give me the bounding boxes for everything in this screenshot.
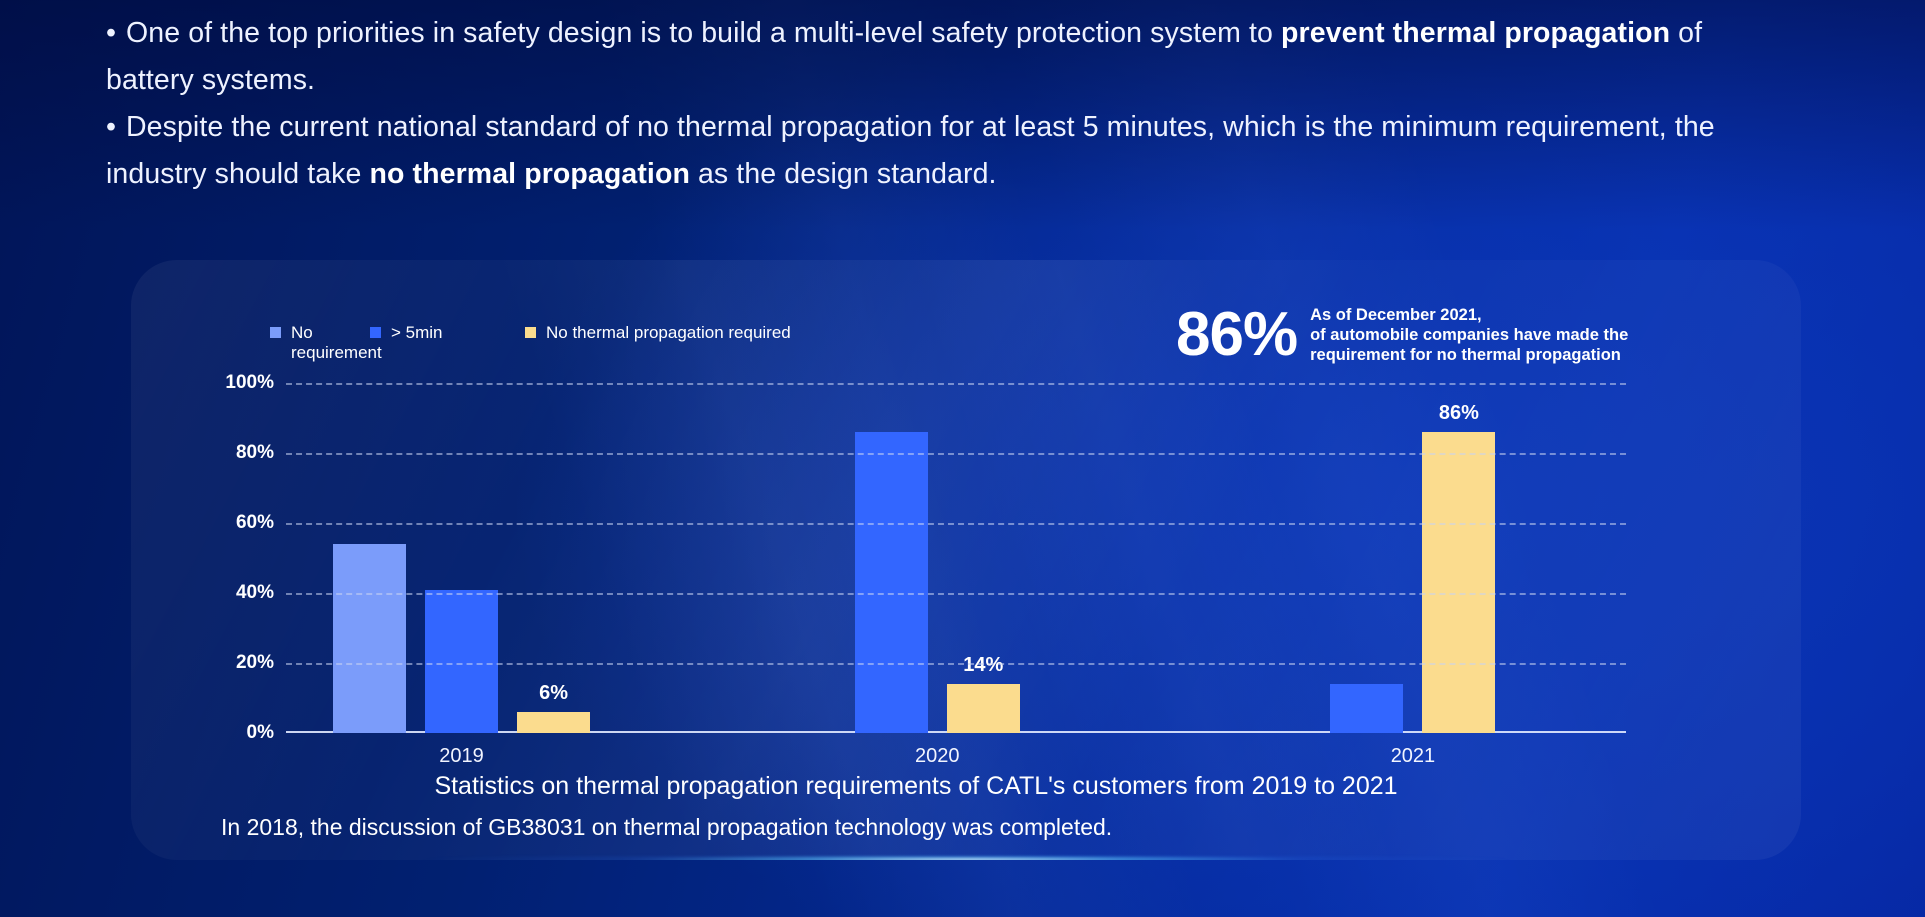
legend-item-2[interactable]: No thermal propagation required [525, 323, 791, 343]
chart-legend: No requirement> 5minNo thermal propagati… [270, 323, 791, 363]
legend-swatch-icon [370, 327, 381, 338]
bar-2021-series-1[interactable] [1330, 684, 1403, 733]
bar-2019-series-0[interactable] [333, 544, 406, 733]
callout-percent: 86% [1176, 304, 1297, 366]
bullet-marker: • [106, 111, 118, 143]
callout-block: 86% As of December 2021, of automobile c… [1176, 304, 1628, 366]
legend-item-0[interactable]: No requirement [270, 323, 370, 363]
x-axis-tick-label: 2020 [915, 745, 960, 768]
y-axis-tick-label: 40% [236, 582, 274, 604]
bullet-paragraph: • Despite the current national standard … [106, 104, 1786, 198]
chart-caption: Statistics on thermal propagation requir… [131, 772, 1801, 801]
legend-swatch-icon [270, 327, 281, 338]
note-caption: In 2018, the discussion of GB38031 on th… [221, 814, 1112, 841]
legend-label: > 5min [391, 323, 443, 343]
gridline [286, 453, 1626, 455]
chart-plot-area: 6%14%86% 0%20%40%60%80%100%201920202021 [286, 383, 1626, 733]
chart-card: No requirement> 5minNo thermal propagati… [131, 260, 1801, 860]
legend-item-1[interactable]: > 5min [370, 323, 525, 343]
bullet-text-block: • One of the top priorities in safety de… [106, 10, 1786, 198]
bullet-text: as the design standard. [690, 158, 997, 190]
card-bottom-glow [416, 856, 1516, 860]
bar-2019-series-1[interactable] [425, 590, 498, 734]
y-axis-tick-label: 80% [236, 442, 274, 464]
bar-value-label: 14% [963, 654, 1003, 677]
bar-value-label: 86% [1439, 402, 1479, 425]
bullet-emphasis: no thermal propagation [370, 158, 690, 190]
legend-label: No requirement [291, 323, 382, 363]
y-axis-tick-label: 100% [225, 372, 274, 394]
gridline [286, 383, 1626, 385]
gridline [286, 663, 1626, 665]
legend-label: No thermal propagation required [546, 323, 791, 343]
bar-2019-series-2[interactable]: 6% [517, 712, 590, 733]
bar-value-label: 6% [539, 682, 568, 705]
bullet-paragraph: • One of the top priorities in safety de… [106, 10, 1786, 104]
x-axis-tick-label: 2021 [1391, 745, 1436, 768]
gridline [286, 593, 1626, 595]
bar-2021-series-2[interactable]: 86% [1422, 432, 1495, 733]
bar-2020-series-2[interactable]: 14% [947, 684, 1020, 733]
chart-bars-container: 6%14%86% [286, 383, 1626, 733]
y-axis-tick-label: 60% [236, 512, 274, 534]
x-axis-tick-label: 2019 [439, 745, 484, 768]
y-axis-tick-label: 20% [236, 652, 274, 674]
callout-description: As of December 2021, of automobile compa… [1310, 305, 1628, 365]
gridline [286, 523, 1626, 525]
bullet-emphasis: prevent thermal propagation [1281, 17, 1670, 49]
legend-swatch-icon [525, 327, 536, 338]
y-axis-tick-label: 0% [247, 722, 274, 744]
bullet-text: One of the top priorities in safety desi… [118, 17, 1281, 49]
bar-2020-series-1[interactable] [855, 432, 928, 733]
bullet-marker: • [106, 17, 118, 49]
